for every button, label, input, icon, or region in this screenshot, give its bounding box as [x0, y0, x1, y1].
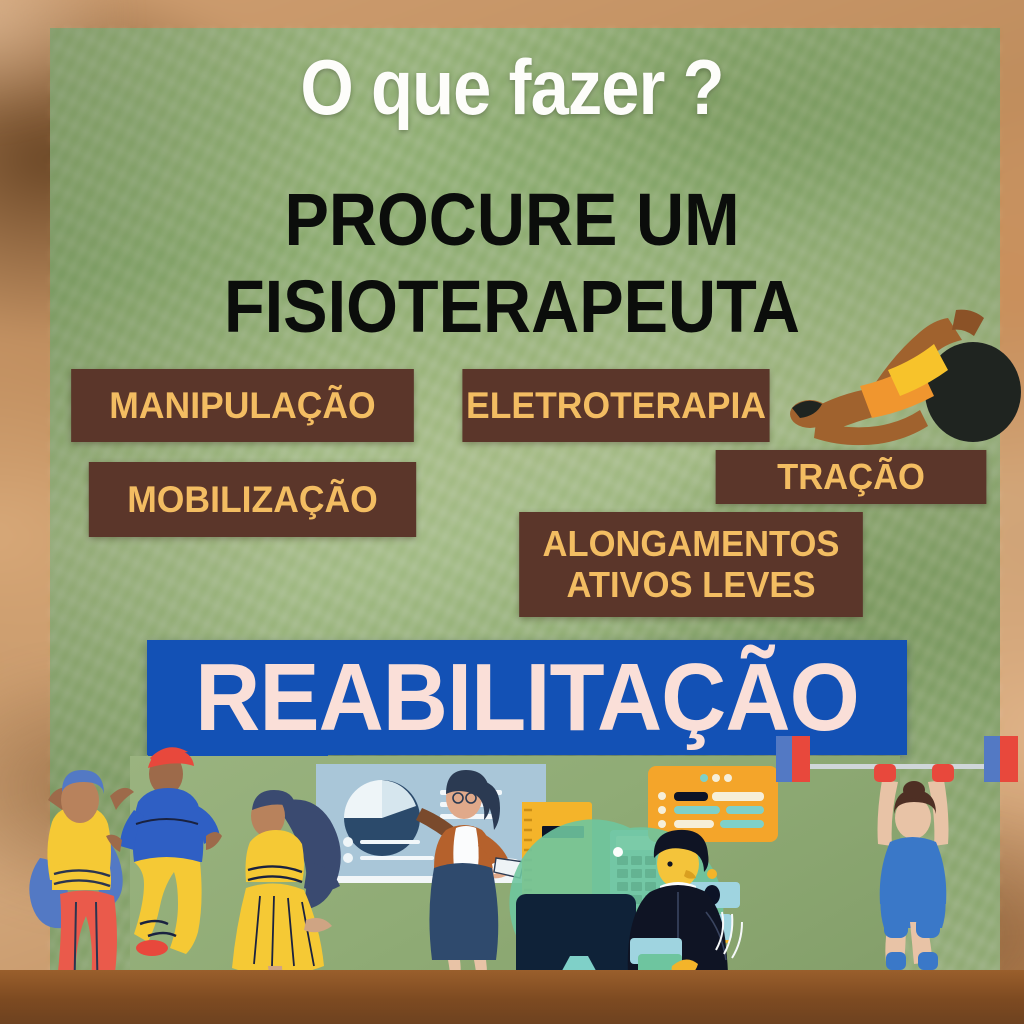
tag-manipulacao: MANIPULAÇÃO — [71, 369, 414, 442]
exercise-ball-illustration — [780, 290, 1020, 450]
tag-alongamentos-ativos-leves: ALONGAMENTOS ATIVOS LEVES — [519, 512, 863, 617]
tag-alongamentos-line-2: ATIVOS LEVES — [566, 566, 815, 604]
poster: O que fazer ? PROCURE UM FISIOTERAPEUTA … — [0, 0, 1024, 1024]
tag-alongamentos-line-1: ALONGAMENTOS — [543, 525, 840, 563]
tag-mobilizacao: MOBILIZAÇÃO — [89, 462, 416, 537]
tag-tracao: TRAÇÃO — [716, 450, 987, 504]
tag-eletroterapia: ELETROTERAPIA — [462, 369, 769, 442]
page-title: O que fazer ? — [61, 42, 962, 133]
illustration-band — [0, 744, 1024, 1024]
weightlifter-figure — [848, 756, 978, 1006]
subtitle-line-1: PROCURE UM — [284, 178, 739, 261]
illustration-floor — [0, 970, 1024, 1024]
